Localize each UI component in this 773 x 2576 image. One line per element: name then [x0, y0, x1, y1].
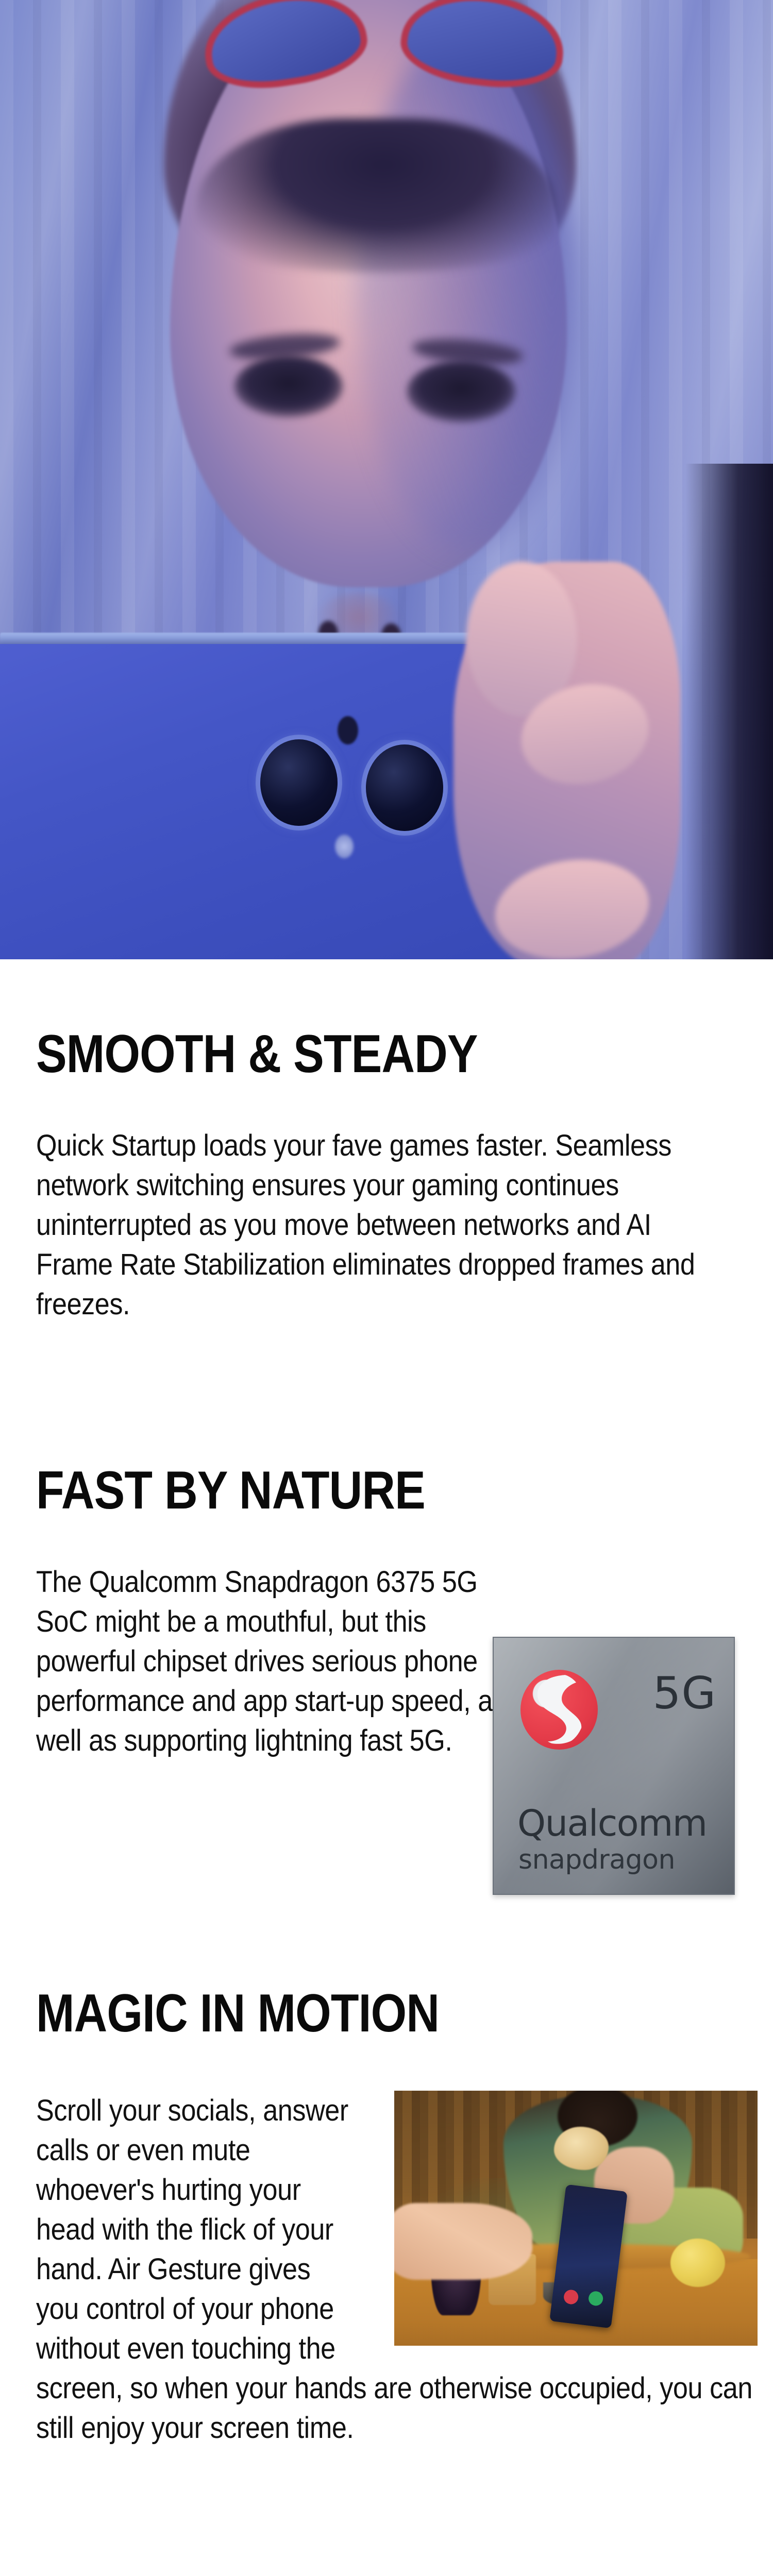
- chip-brand-label: Qualcomm: [517, 1802, 707, 1844]
- hero-hair-fringe: [196, 118, 557, 273]
- sunglasses-lens-left: [197, 0, 373, 98]
- fast-by-nature-row: The Qualcomm Snapdragon 6375 5G SoC migh…: [36, 1562, 758, 1760]
- section-heading-magic-in-motion: MAGIC IN MOTION: [36, 1987, 657, 2040]
- chip-package: 5G Qualcomm snapdragon: [493, 1637, 735, 1895]
- hero-image: [0, 0, 773, 959]
- sunglasses-lens-right: [396, 0, 569, 95]
- section-heading-fast-by-nature: FAST BY NATURE: [36, 1464, 657, 1517]
- section-smooth-and-steady: SMOOTH & STEADY Quick Startup loads your…: [36, 983, 747, 1354]
- hero-face-shadow: [356, 31, 577, 551]
- hero-phone-flash: [335, 835, 354, 858]
- chip-product-label: snapdragon: [518, 1844, 675, 1875]
- section-magic-in-motion: MAGIC IN MOTION: [36, 1942, 758, 2478]
- chip-5g-label: 5G: [653, 1668, 716, 1719]
- magic-in-motion-body-wrap: Scroll your socials, answer calls or eve…: [36, 2091, 758, 2448]
- hero-phone-camera-2: [366, 744, 443, 831]
- section-body-fast-by-nature: The Qualcomm Snapdragon 6375 5G SoC migh…: [36, 1562, 509, 1760]
- fast-by-nature-text-col: The Qualcomm Snapdragon 6375 5G SoC migh…: [36, 1562, 562, 1760]
- hero-phone-sensor: [338, 716, 358, 744]
- hero-eye-right: [407, 361, 515, 422]
- hero-eye-left: [234, 355, 343, 417]
- section-body-magic-in-motion: Scroll your socials, answer calls or eve…: [36, 2091, 773, 2448]
- section-heading-smooth-and-steady: SMOOTH & STEADY: [36, 1027, 648, 1081]
- qualcomm-chip-image: 5G Qualcomm snapdragon: [493, 1637, 733, 1893]
- snapdragon-logo-icon: [520, 1670, 598, 1750]
- hero-right-shadow: [685, 464, 773, 959]
- section-body-smooth-and-steady: Quick Startup loads your fave games fast…: [36, 1126, 732, 1324]
- section-fast-by-nature: FAST BY NATURE The Qualcomm Snapdragon 6…: [36, 1419, 758, 1790]
- hero-sunglasses: [204, 0, 564, 98]
- hero-phone-camera-1: [260, 739, 338, 826]
